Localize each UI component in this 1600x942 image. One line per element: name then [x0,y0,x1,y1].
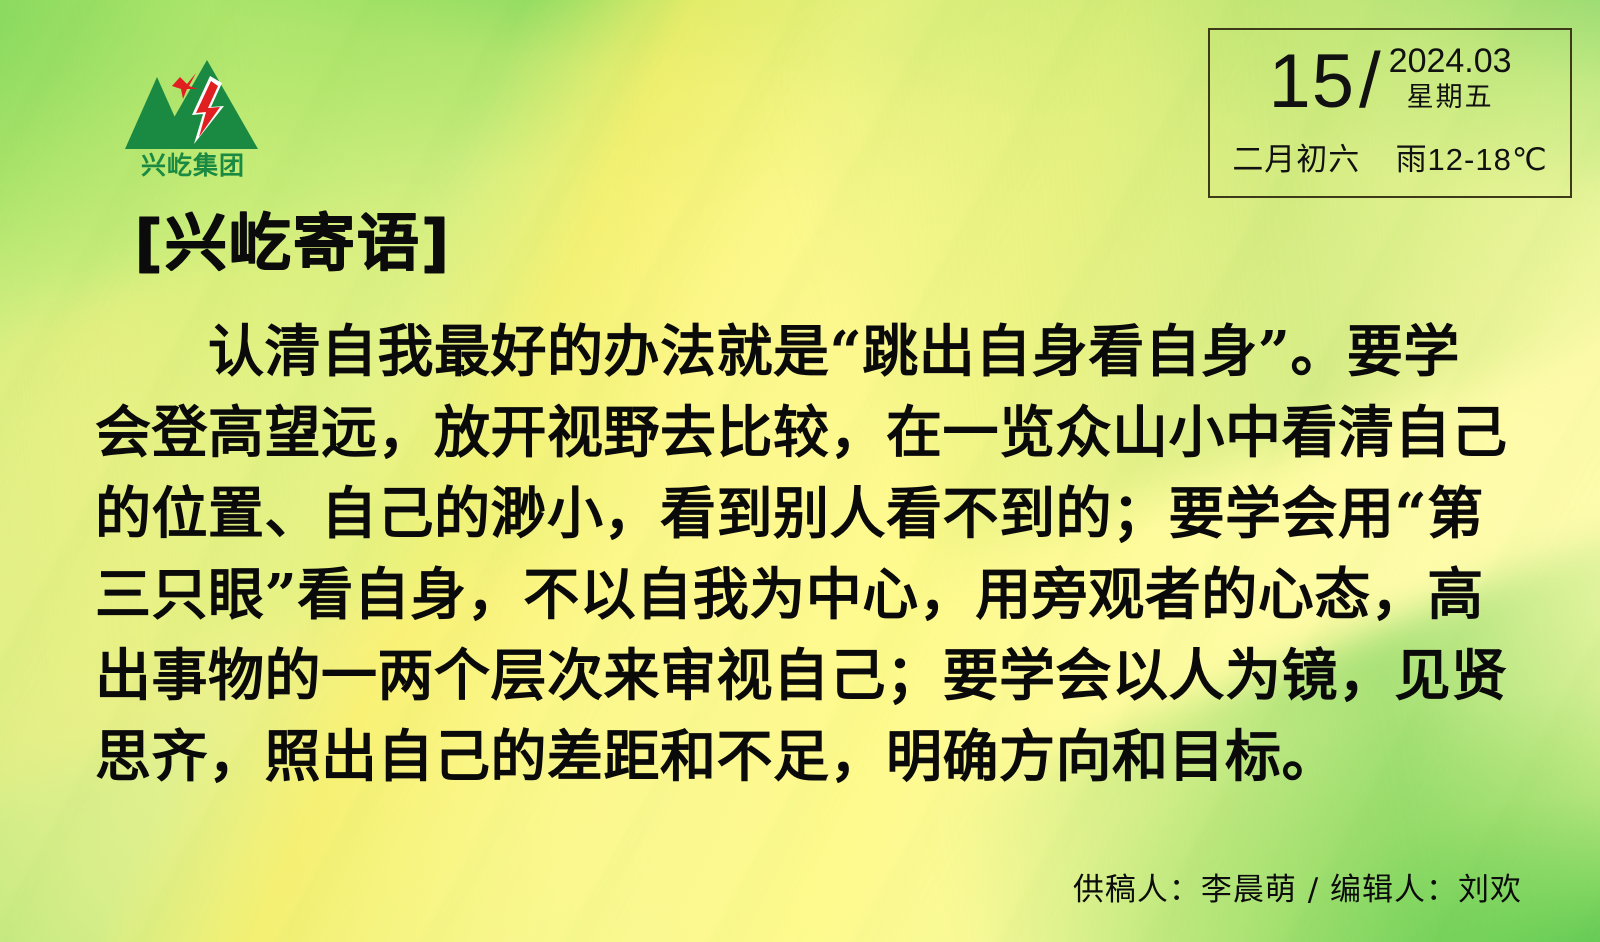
date-day: 15 [1268,36,1355,128]
body-line: 的位置、自己的渺小，看到别人看不到的；要学会用“第 [95,474,1515,555]
date-lunar: 二月初六 [1232,142,1360,177]
date-right-stack: 2024.03 星期五 [1389,36,1512,114]
date-box: 15 / 2024.03 星期五 二月初六 雨12-18℃ [1208,28,1572,198]
date-year-month: 2024.03 [1389,42,1512,80]
page-title: [兴屹寄语] [134,206,451,280]
date-main-row: 15 / 2024.03 星期五 [1210,36,1570,140]
body-line: 思齐，照出自己的差距和不足，明确方向和目标。 [95,717,1515,798]
body-line: 会登高望远，放开视野去比较，在一览众山小中看清自己 [95,393,1515,474]
body-line: 认清自我最好的办法就是“跳出自身看自身”。要学 [95,312,1515,393]
body-line: 出事物的一两个层次来审视自己；要学会以人为镜，见贤 [95,636,1515,717]
poster-canvas: 兴屹集团 15 / 2024.03 星期五 二月初六 雨12-18℃ [兴屹寄语… [0,0,1600,942]
date-weather: 雨12-18℃ [1396,142,1548,177]
date-lunar-weather-row: 二月初六 雨12-18℃ [1210,140,1570,180]
date-separator: / [1359,34,1381,126]
company-name-text: 兴屹集团 [141,151,245,177]
body-text: 认清自我最好的办法就是“跳出自身看自身”。要学 会登高望远，放开视野去比较，在一… [95,312,1515,798]
body-line: 三只眼”看自身，不以自我为中心，用旁观者的心态，高 [95,555,1515,636]
company-logo: 兴屹集团 [118,52,268,177]
date-weekday: 星期五 [1407,80,1494,114]
credits-line: 供稿人：李晨萌 / 编辑人：刘欢 [1073,870,1522,910]
